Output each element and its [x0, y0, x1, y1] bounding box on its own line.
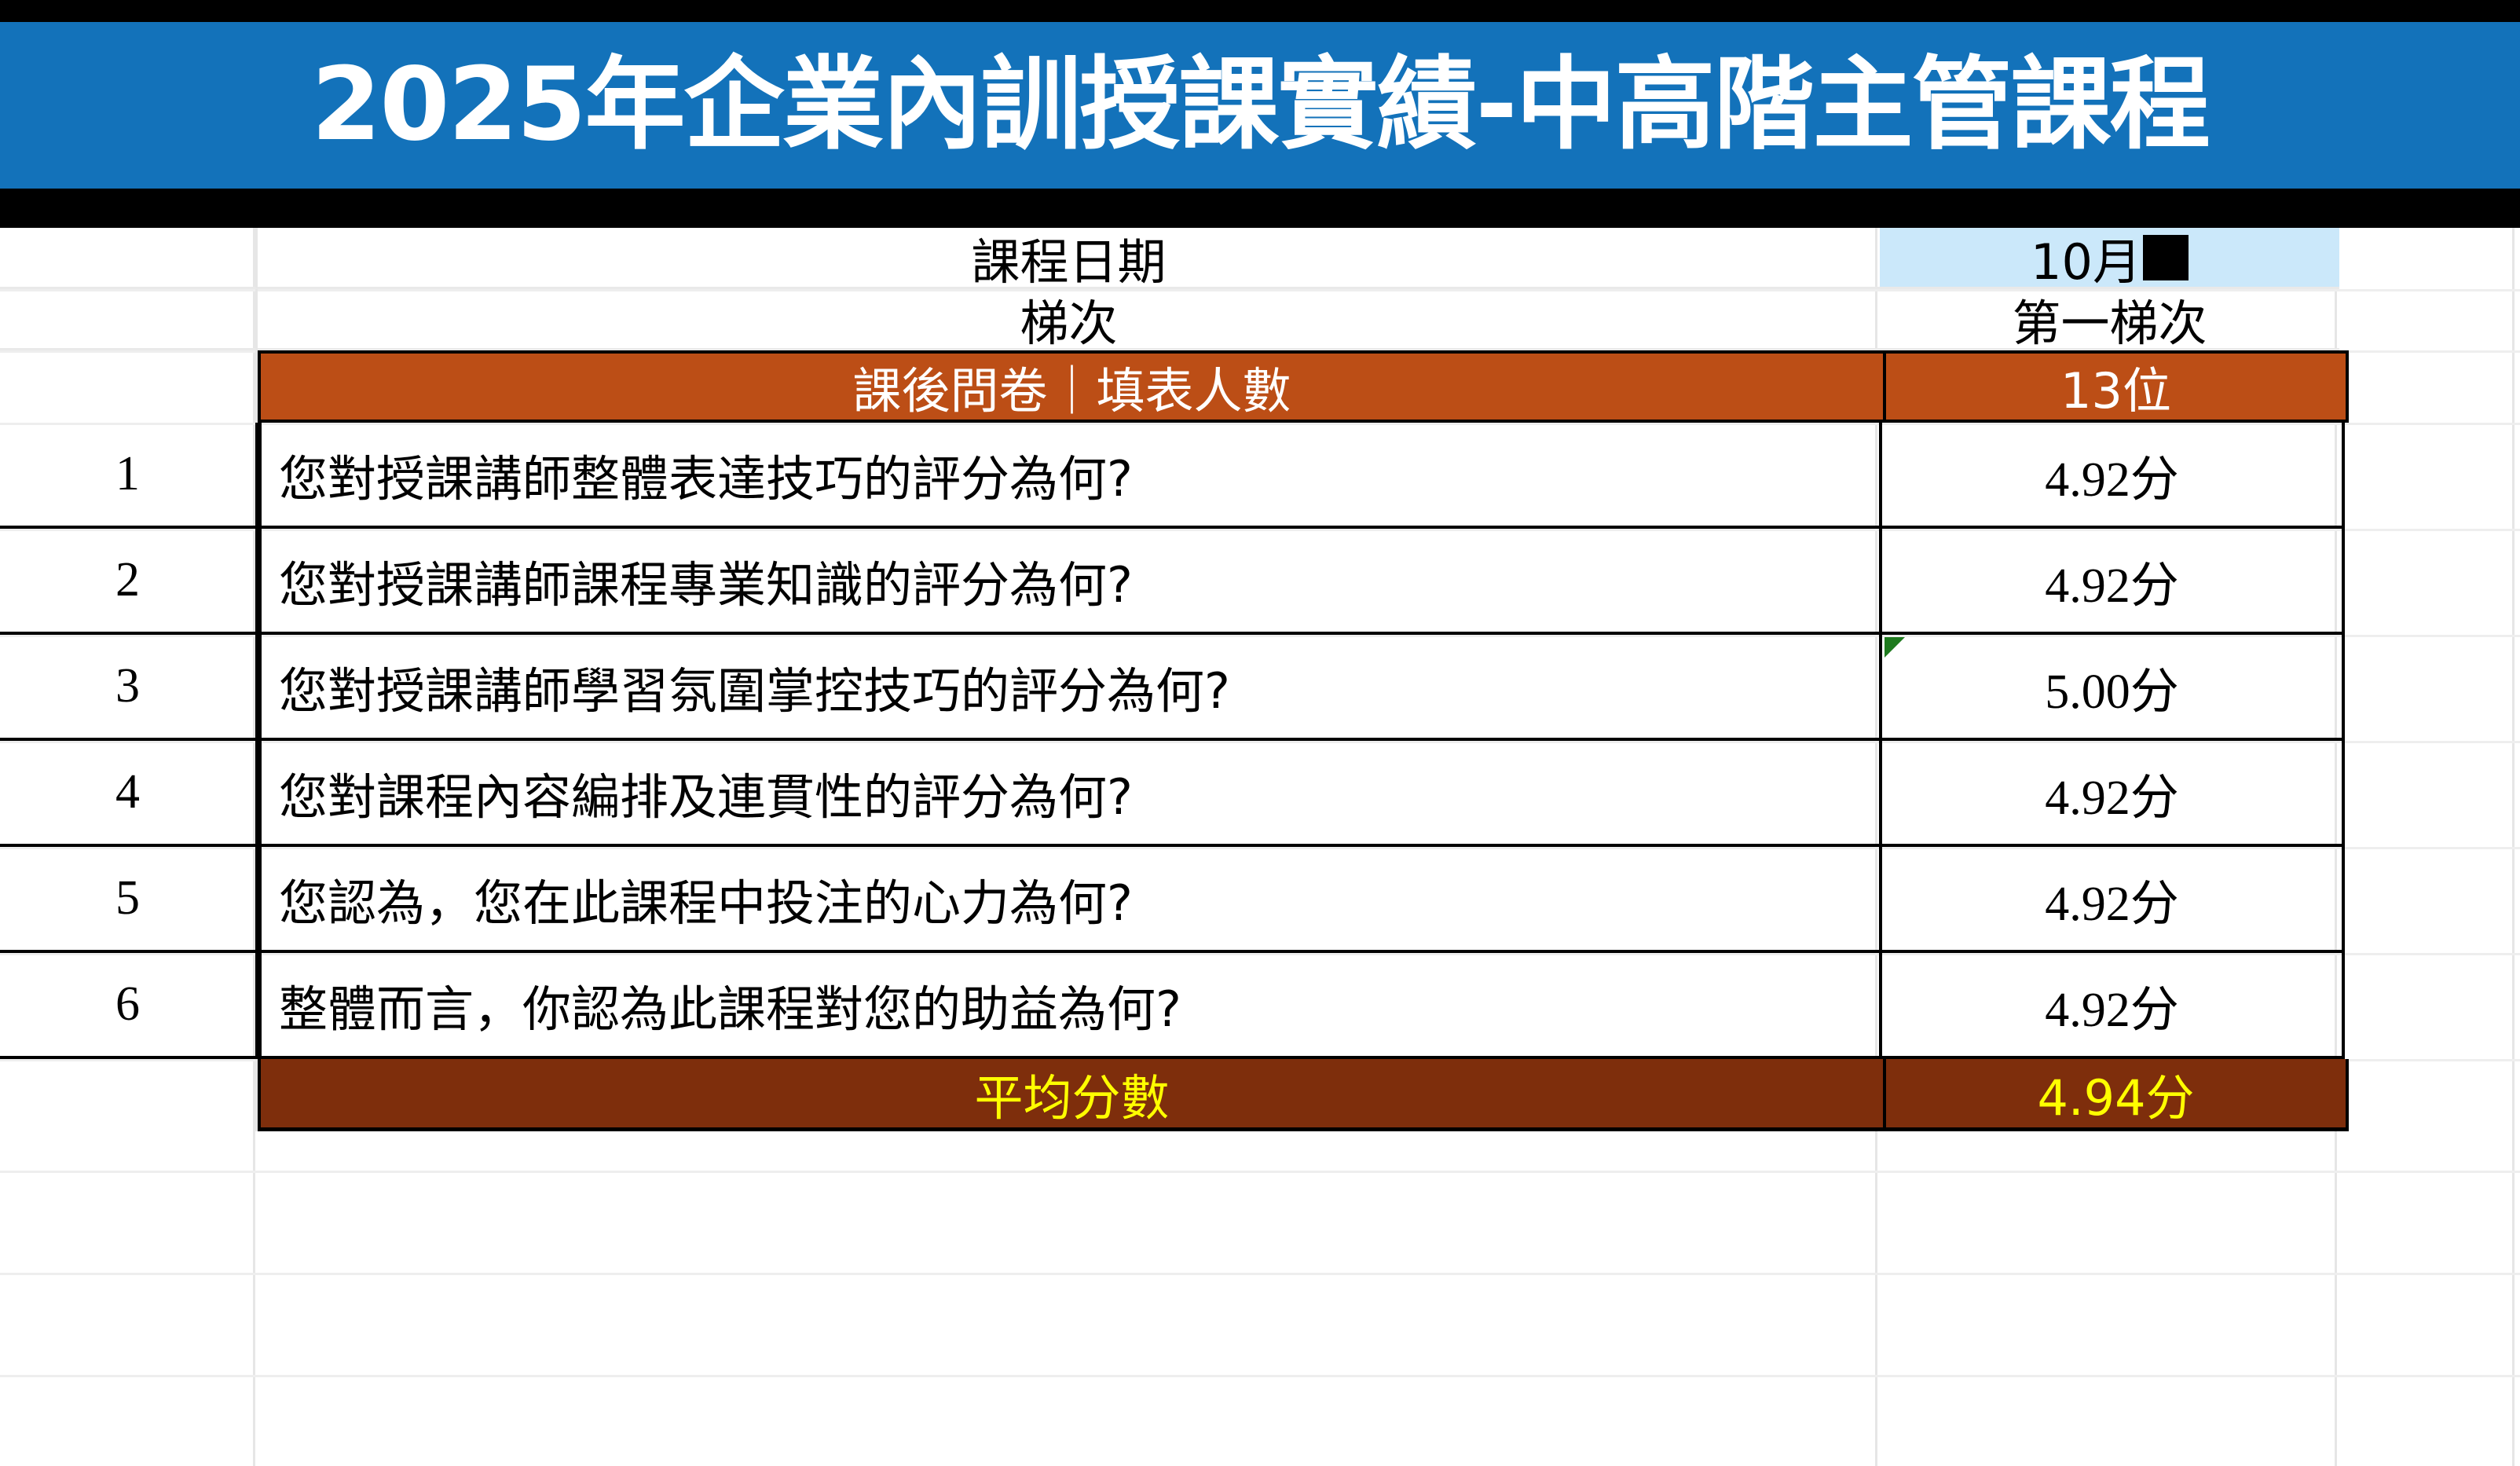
batch-value: 第一梯次 [2012, 284, 2207, 354]
question-text: 您對授課講師整體表達技巧的評分為何? [279, 439, 1133, 510]
table-row: 5 您認為，您在此課程中投注的心力為何? 4.92分 [0, 847, 2520, 953]
trailing-cell [2339, 228, 2520, 289]
question-score: 4.92分 [2045, 439, 2179, 510]
question-score-cell[interactable]: 4.92分 [1881, 529, 2345, 635]
spreadsheet-area: 課程日期 10月 梯次 第一梯次 課後問卷｜填表人數 13位 [0, 228, 2520, 1466]
question-score: 5.00分 [2045, 651, 2179, 722]
table-row-average: 平均分數 4.94分 [0, 1059, 2520, 1131]
course-date-value-cell[interactable]: 10月 [1880, 228, 2339, 289]
question-score-cell[interactable]: 4.92分 [1881, 423, 2345, 529]
average-value: 4.94分 [2037, 1058, 2194, 1129]
trailing-cell [2345, 847, 2520, 953]
question-text-cell: 整體而言，你認為此課程對您的助益為何? [258, 953, 1881, 1059]
batch-value-cell[interactable]: 第一梯次 [1880, 289, 2339, 350]
trailing-cell [2345, 635, 2520, 741]
question-score: 4.92分 [2045, 757, 2179, 828]
trailing-cell [2345, 423, 2520, 529]
row-number-cell: 2 [0, 529, 258, 635]
course-date-label: 課程日期 [971, 222, 1166, 293]
question-text: 您對授課講師學習氛圍掌控技巧的評分為何? [279, 651, 1230, 722]
batch-label-cell: 梯次 [258, 289, 1880, 350]
trailing-cell [2345, 953, 2520, 1059]
respondent-count-cell: 13位 [1885, 350, 2349, 423]
question-text-cell: 您對課程內容編排及連貫性的評分為何? [258, 741, 1881, 847]
table-row-batch: 梯次 第一梯次 [0, 289, 2520, 350]
row-number: 5 [115, 870, 140, 926]
banner-separator-bar [0, 189, 2520, 228]
row-number: 6 [115, 977, 140, 1032]
trailing-cell [2349, 350, 2520, 423]
question-text: 您認為，您在此課程中投注的心力為何? [279, 863, 1133, 934]
trailing-cell [2349, 1059, 2520, 1131]
gridline-horizontal [0, 1375, 2520, 1377]
table-row: 3 您對授課講師學習氛圍掌控技巧的評分為何? 5.00分 [0, 635, 2520, 741]
respondent-count: 13位 [2060, 351, 2171, 422]
comment-flag-icon [1885, 637, 1905, 658]
course-date-label-cell: 課程日期 [258, 228, 1880, 289]
question-score-cell[interactable]: 4.92分 [1881, 847, 2345, 953]
gridline-horizontal [0, 1171, 2520, 1173]
average-value-cell: 4.94分 [1885, 1059, 2349, 1131]
row-number-cell: 3 [0, 635, 258, 741]
table-row: 1 您對授課講師整體表達技巧的評分為何? 4.92分 [0, 423, 2520, 529]
average-label-cell: 平均分數 [258, 1059, 1885, 1131]
trailing-cell [2339, 289, 2520, 350]
question-score-cell[interactable]: 4.92分 [1881, 741, 2345, 847]
question-text-cell: 您對授課講師課程專業知識的評分為何? [258, 529, 1881, 635]
question-text: 您對授課講師課程專業知識的評分為何? [279, 545, 1133, 616]
table-row: 4 您對課程內容編排及連貫性的評分為何? 4.92分 [0, 741, 2520, 847]
row-number: 3 [115, 658, 140, 714]
question-text-cell: 您對授課講師學習氛圍掌控技巧的評分為何? [258, 635, 1881, 741]
question-score: 4.92分 [2045, 863, 2179, 934]
trailing-cell [2345, 741, 2520, 847]
table-row: 6 整體而言，你認為此課程對您的助益為何? 4.92分 [0, 953, 2520, 1059]
trailing-cell [2345, 529, 2520, 635]
row-number-cell: 1 [0, 423, 258, 529]
question-score-cell[interactable]: 4.92分 [1881, 953, 2345, 1059]
row-number-cell [0, 289, 258, 350]
average-label: 平均分數 [974, 1058, 1169, 1129]
question-score-cell[interactable]: 5.00分 [1881, 635, 2345, 741]
row-number: 2 [115, 552, 140, 608]
survey-header-label-cell: 課後問卷｜填表人數 [258, 350, 1885, 423]
page-title: 2025年企業內訓授課實績-中高階主管課程 [311, 55, 2208, 156]
row-number-cell [0, 228, 258, 289]
question-score: 4.92分 [2045, 545, 2179, 616]
survey-header-label: 課後問卷｜填表人數 [852, 351, 1291, 422]
question-text-cell: 您認為，您在此課程中投注的心力為何? [258, 847, 1881, 953]
question-text: 整體而言，你認為此課程對您的助益為何? [279, 969, 1181, 1040]
redaction-box-icon [2143, 235, 2189, 280]
row-number-cell [0, 350, 258, 423]
top-black-bar [0, 0, 2520, 22]
table-row: 2 您對授課講師課程專業知識的評分為何? 4.92分 [0, 529, 2520, 635]
row-number: 4 [115, 764, 140, 820]
row-number-cell: 6 [0, 953, 258, 1059]
row-number-cell: 4 [0, 741, 258, 847]
row-number-cell [0, 1059, 258, 1131]
table-row-section-header: 課後問卷｜填表人數 13位 [0, 350, 2520, 423]
question-text-cell: 您對授課講師整體表達技巧的評分為何? [258, 423, 1881, 529]
gridline-horizontal [0, 1273, 2520, 1275]
row-number: 1 [115, 446, 140, 502]
question-text: 您對課程內容編排及連貫性的評分為何? [279, 757, 1133, 828]
question-score: 4.92分 [2045, 969, 2179, 1040]
table-row-course-date: 課程日期 10月 [0, 228, 2520, 289]
batch-label: 梯次 [1020, 284, 1117, 354]
row-number-cell: 5 [0, 847, 258, 953]
course-date-value: 10月 [2031, 222, 2141, 293]
title-banner: 2025年企業內訓授課實績-中高階主管課程 [0, 22, 2520, 189]
